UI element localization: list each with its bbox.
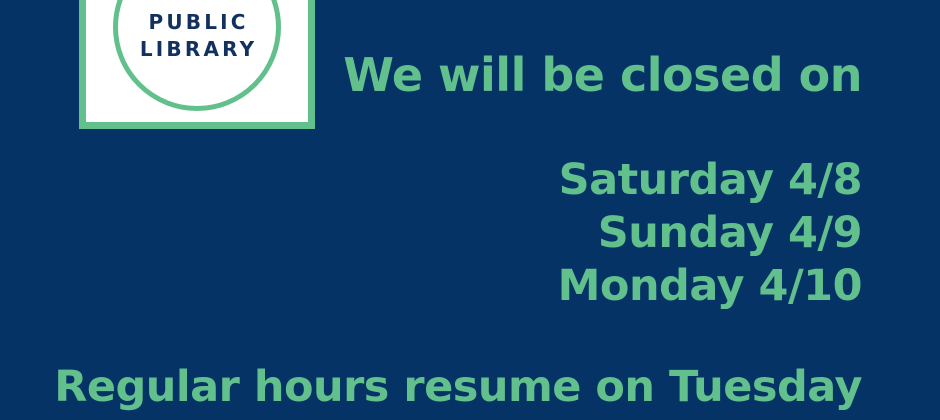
list-item: Monday 4/10 [0, 260, 862, 313]
announcement-text-block: We will be closed on Saturday 4/8 Sunday… [0, 0, 862, 414]
closure-announcement-poster: PUBLIC LIBRARY We will be closed on Satu… [0, 0, 940, 420]
closed-dates-list: Saturday 4/8 Sunday 4/9 Monday 4/10 [0, 154, 862, 313]
list-item: Saturday 4/8 [0, 154, 862, 207]
list-item: Sunday 4/9 [0, 207, 862, 260]
headline: We will be closed on [0, 48, 862, 102]
reopening-notice: Regular hours resume on Tuesday [0, 361, 862, 414]
